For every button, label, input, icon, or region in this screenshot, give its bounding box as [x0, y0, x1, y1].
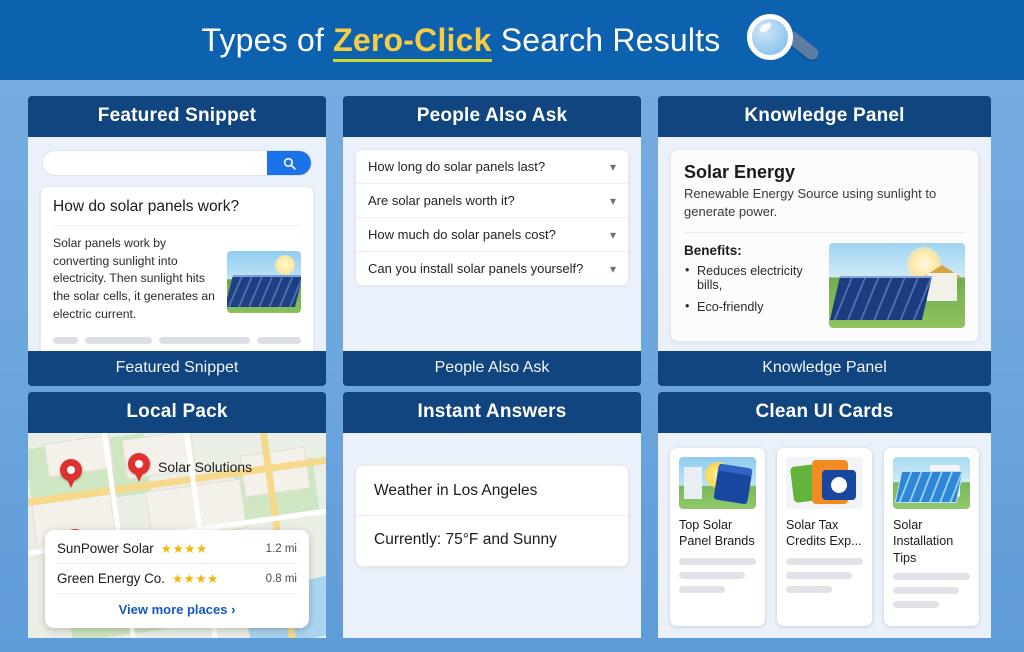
snippet-thumbnail: [227, 251, 301, 313]
placeholder-line: [893, 601, 939, 608]
card-thumbnail: [679, 457, 756, 509]
magnifying-glass-icon: [739, 11, 823, 69]
placeholder-line: [786, 572, 852, 579]
solar-array-shape: [830, 276, 932, 320]
placeholder-bar: [159, 337, 251, 344]
placeholder-line: [679, 558, 756, 565]
chevron-right-icon: ›: [231, 602, 235, 617]
panel-clean-ui-cards: Clean UI Cards Top Solar Panel Brands: [658, 392, 991, 638]
listing-distance: 1.2 mi: [266, 543, 297, 555]
ui-card-list: Top Solar Panel Brands S: [670, 445, 979, 626]
chevron-down-icon[interactable]: ▾: [610, 161, 616, 173]
placeholder-bar: [257, 337, 301, 344]
sun-icon: [275, 255, 295, 275]
knowledge-panel-caption: Knowledge Panel: [658, 351, 991, 386]
listing-stars: ★★★★: [172, 571, 219, 586]
magnifier-lens: [747, 14, 793, 60]
title-highlight: Zero-Click: [333, 22, 491, 62]
search-icon: [283, 157, 296, 170]
panel-featured-snippet: Featured Snippet How do solar panels wor…: [28, 96, 326, 386]
clean-ui-cards-body: Top Solar Panel Brands S: [658, 433, 991, 638]
ui-card[interactable]: Solar Installation Tips: [884, 448, 979, 626]
paa-question-label: How much do solar panels cost?: [368, 227, 556, 242]
paa-accordion: How long do solar panels last? ▾ Are sol…: [355, 149, 629, 286]
paa-question-row[interactable]: Can you install solar panels yourself? ▾: [356, 252, 628, 285]
blue-badge-icon: [822, 470, 856, 500]
card-placeholder-lines: [679, 558, 756, 593]
panel-local-pack: Local Pack: [28, 392, 326, 638]
ui-card[interactable]: Top Solar Panel Brands: [670, 448, 765, 626]
map-place-label: Solar Solutions: [158, 459, 252, 475]
instant-answer-question: Weather in Los Angeles: [356, 466, 628, 516]
people-also-ask-body: How long do solar panels last? ▾ Are sol…: [343, 137, 641, 351]
listing-name: Green Energy Co.: [57, 571, 165, 586]
chevron-down-icon[interactable]: ▾: [610, 195, 616, 207]
placeholder-bar: [85, 337, 152, 344]
knowledge-benefits-list: Benefits: Reduces electricity bills, Eco…: [684, 243, 819, 328]
panel-grid: Featured Snippet How do solar panels wor…: [28, 96, 990, 638]
local-pack-body: Solar Solutions SunPower Solar ★★★★ 1.2 …: [28, 433, 326, 638]
calculator-icon: [713, 464, 752, 505]
instant-answer-value: Currently: 75°F and Sunny: [356, 516, 628, 566]
paa-question-row[interactable]: How much do solar panels cost? ▾: [356, 218, 628, 252]
benefit-item: Reduces electricity bills,: [684, 264, 819, 292]
featured-snippet-body: How do solar panels work? Solar panels w…: [28, 137, 326, 351]
placeholder-line: [893, 587, 959, 594]
placeholder-line: [679, 572, 745, 579]
search-bar[interactable]: [42, 150, 312, 176]
benefit-item: Eco-friendly: [684, 300, 819, 314]
knowledge-thumbnail: [829, 243, 965, 328]
pin-tip: [65, 475, 77, 488]
panel-knowledge-panel: Knowledge Panel Solar Energy Renewable E…: [658, 96, 991, 386]
people-also-ask-caption: People Also Ask: [343, 351, 641, 386]
map-pin-icon[interactable]: [128, 453, 150, 483]
knowledge-panel-body: Solar Energy Renewable Energy Source usi…: [658, 137, 991, 351]
knowledge-subtitle: Renewable Energy Source using sunlight t…: [684, 185, 965, 233]
chevron-down-icon[interactable]: ▾: [610, 229, 616, 241]
placeholder-bar: [53, 337, 78, 344]
local-listings-card: SunPower Solar ★★★★ 1.2 mi Green Energy …: [45, 530, 309, 628]
local-pack-header: Local Pack: [28, 392, 326, 433]
featured-snippet-header: Featured Snippet: [28, 96, 326, 137]
paa-question-label: How long do solar panels last?: [368, 159, 545, 174]
chevron-down-icon[interactable]: ▾: [610, 263, 616, 275]
page-header: Types of Zero-Click Search Results: [0, 0, 1024, 80]
paa-question-row[interactable]: How long do solar panels last? ▾: [356, 150, 628, 184]
people-also-ask-header: People Also Ask: [343, 96, 641, 137]
title-text-after: Search Results: [492, 22, 721, 58]
card-thumbnail: [786, 457, 863, 509]
pin-tip: [133, 469, 145, 482]
card-title: Solar Tax Credits Exp...: [786, 517, 863, 551]
local-listing-row[interactable]: Green Energy Co. ★★★★ 0.8 mi: [57, 564, 297, 594]
view-more-label: View more places: [119, 602, 228, 617]
benefits-label: Benefits:: [684, 243, 819, 258]
knowledge-card: Solar Energy Renewable Energy Source usi…: [670, 149, 979, 342]
paa-question-label: Can you install solar panels yourself?: [368, 261, 583, 276]
listing-stars: ★★★★: [161, 541, 208, 556]
snippet-answer: Solar panels work by converting sunlight…: [53, 235, 218, 323]
placeholder-line: [786, 586, 832, 593]
knowledge-panel-header: Knowledge Panel: [658, 96, 991, 137]
title-text-before: Types of: [201, 22, 333, 58]
panel-instant-answers: Instant Answers Weather in Los Angeles C…: [343, 392, 641, 638]
instant-answer-card: Weather in Los Angeles Currently: 75°F a…: [355, 465, 629, 567]
map-pin-icon[interactable]: [60, 459, 82, 489]
clean-ui-cards-header: Clean UI Cards: [658, 392, 991, 433]
card-placeholder-lines: [786, 558, 863, 593]
panel-people-also-ask: People Also Ask How long do solar panels…: [343, 96, 641, 386]
snippet-question: How do solar panels work?: [53, 198, 301, 226]
snippet-content-row: Solar panels work by converting sunlight…: [53, 226, 301, 323]
knowledge-title: Solar Energy: [684, 162, 965, 183]
instant-answers-header: Instant Answers: [343, 392, 641, 433]
snippet-card: How do solar panels work? Solar panels w…: [40, 186, 314, 351]
knowledge-benefits-row: Benefits: Reduces electricity bills, Eco…: [684, 233, 965, 328]
paa-question-label: Are solar panels worth it?: [368, 193, 515, 208]
instant-answers-body: Weather in Los Angeles Currently: 75°F a…: [343, 433, 641, 638]
card-placeholder-lines: [893, 573, 970, 608]
placeholder-line: [786, 558, 863, 565]
card-thumbnail: [893, 457, 970, 509]
card-title: Solar Installation Tips: [893, 517, 970, 566]
building-shape: [684, 467, 702, 499]
page-title: Types of Zero-Click Search Results: [201, 22, 720, 59]
placeholder-line: [679, 586, 725, 593]
listing-name: SunPower Solar: [57, 541, 154, 556]
infographic-page: Types of Zero-Click Search Results Featu…: [0, 0, 1024, 652]
paa-question-row[interactable]: Are solar panels worth it? ▾: [356, 184, 628, 218]
card-title: Top Solar Panel Brands: [679, 517, 756, 551]
ui-card[interactable]: Solar Tax Credits Exp...: [777, 448, 872, 626]
featured-snippet-caption: Featured Snippet: [28, 351, 326, 386]
snippet-placeholder-bars: [53, 337, 301, 344]
listing-distance: 0.8 mi: [266, 573, 297, 585]
view-more-places-link[interactable]: View more places ›: [57, 594, 297, 622]
search-input[interactable]: [43, 151, 267, 175]
search-button[interactable]: [267, 150, 311, 176]
solar-array-shape: [227, 275, 301, 307]
solar-array-shape: [895, 471, 964, 503]
local-listing-row[interactable]: SunPower Solar ★★★★ 1.2 mi: [57, 534, 297, 564]
placeholder-line: [893, 573, 970, 580]
